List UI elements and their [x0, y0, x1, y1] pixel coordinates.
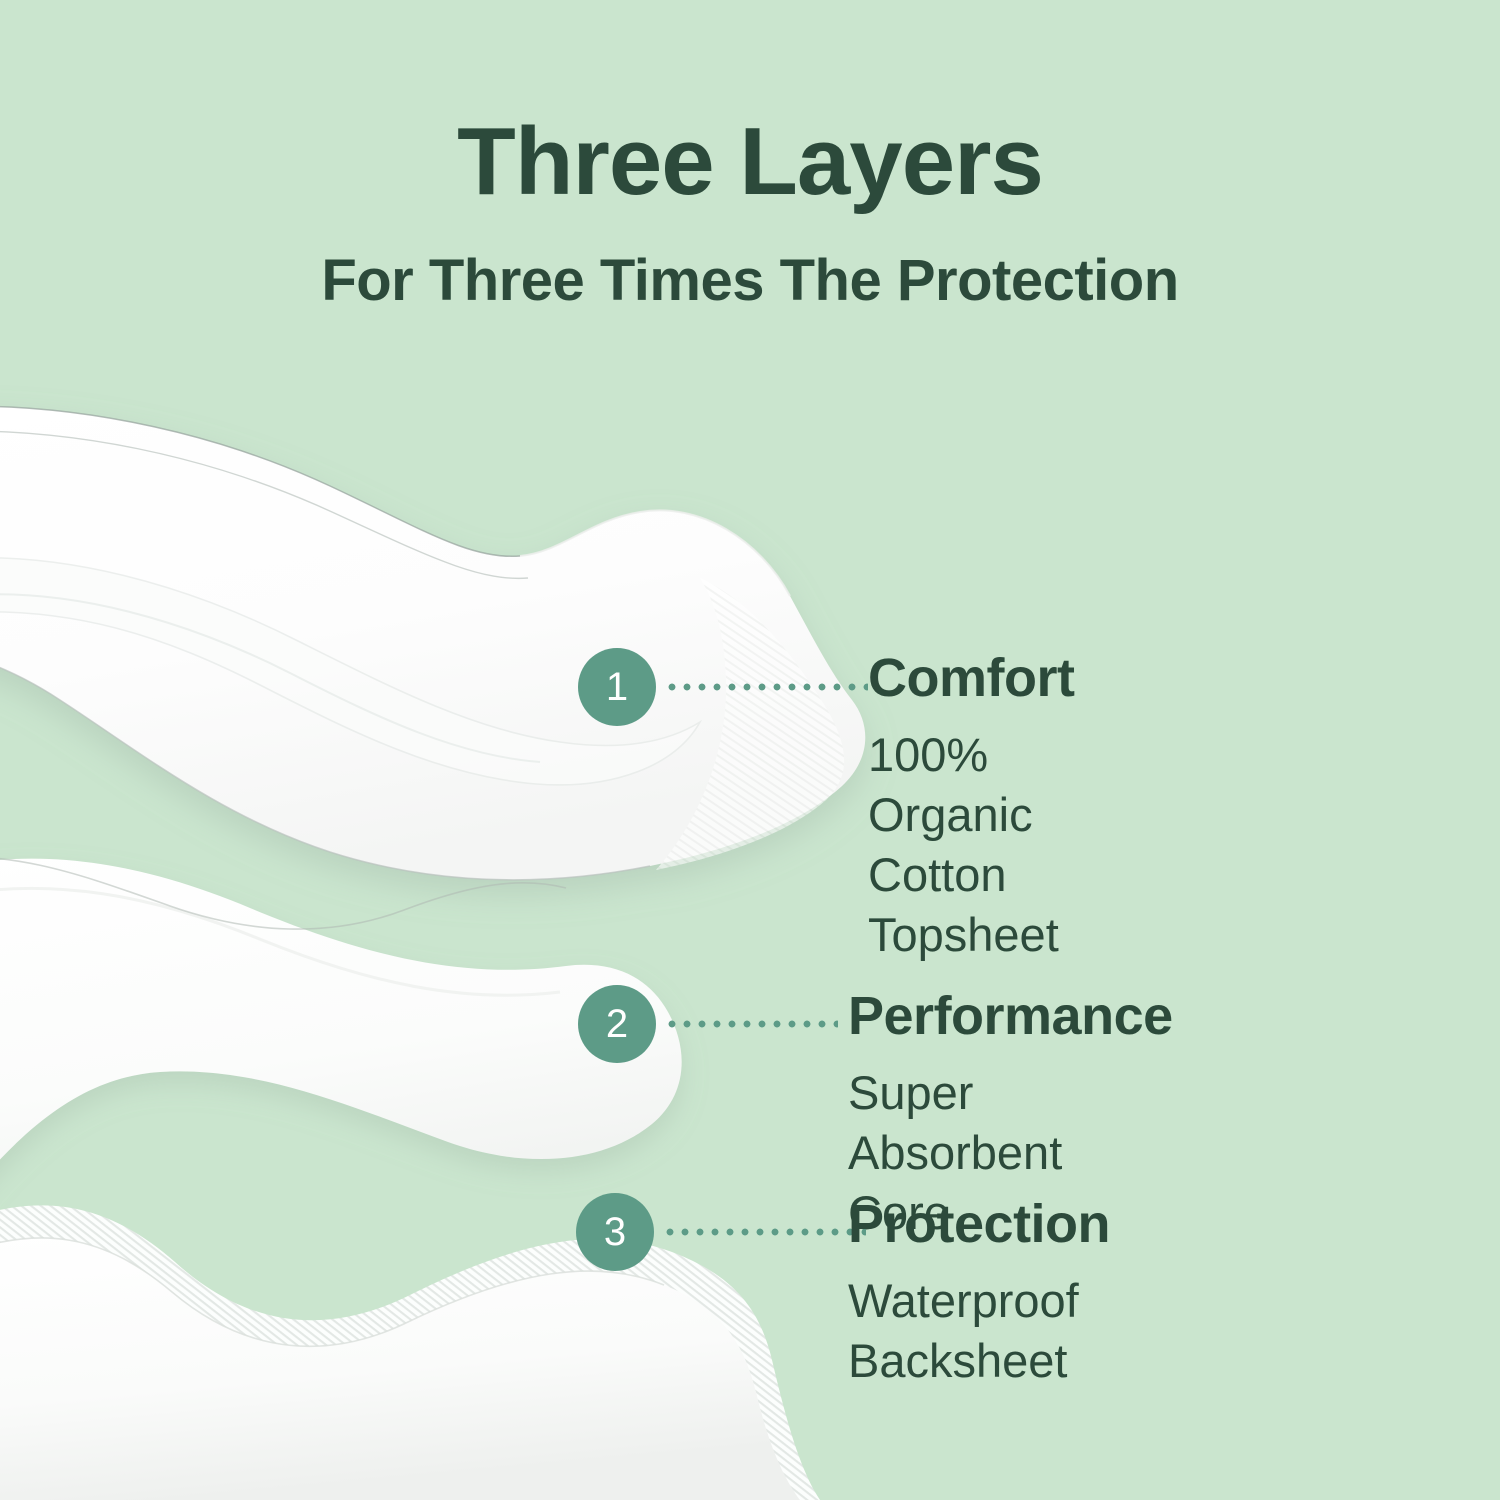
callout-marker-1: 1 [578, 648, 868, 726]
layer-separation-edge [0, 857, 566, 930]
leader-line-3 [666, 1228, 866, 1236]
product-layers-infographic: Three Layers For Three Times The Protect… [0, 0, 1500, 1500]
page-title: Three Layers [0, 112, 1500, 213]
callout-text-1: Comfort 100% Organic Cotton Topsheet [868, 650, 1074, 965]
layer-topsheet [0, 406, 865, 880]
callout-marker-2: 2 [578, 985, 838, 1063]
badge-number-2: 2 [578, 985, 656, 1063]
callout-description-3: Waterproof Backsheet [848, 1271, 1110, 1391]
callout-heading-1: Comfort [868, 650, 1074, 707]
badge-number-1: 1 [578, 648, 656, 726]
leader-line-1 [668, 683, 868, 691]
callout-heading-2: Performance [848, 988, 1173, 1045]
callout-heading-3: Protection [848, 1196, 1110, 1253]
badge-number-3: 3 [576, 1193, 654, 1271]
heading-block: Three Layers For Three Times The Protect… [0, 112, 1500, 313]
callout-description-1: 100% Organic Cotton Topsheet [868, 725, 1074, 966]
leader-line-2 [668, 1020, 838, 1028]
callout-text-3: Protection Waterproof Backsheet [848, 1196, 1110, 1391]
page-subtitle: For Three Times The Protection [0, 249, 1500, 313]
callout-marker-3: 3 [576, 1193, 866, 1271]
